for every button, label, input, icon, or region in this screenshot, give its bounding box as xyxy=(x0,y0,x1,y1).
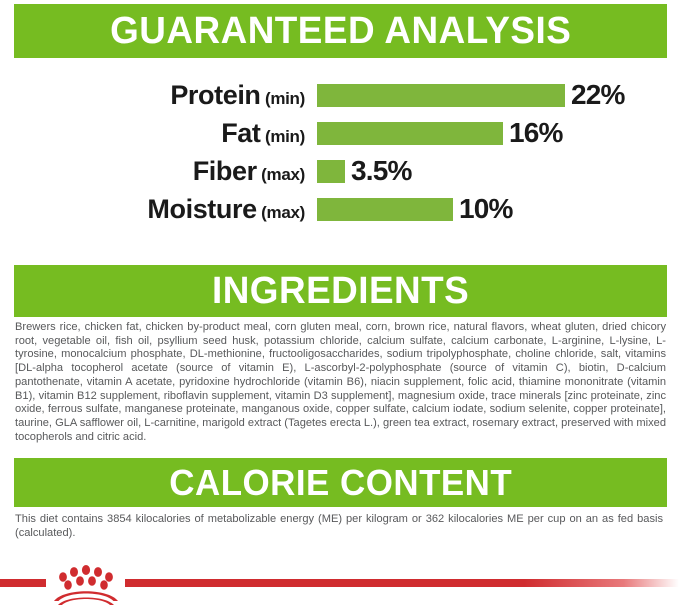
calorie-content-text: This diet contains 3854 kilocalories of … xyxy=(15,513,663,540)
nutrient-label-fat: Fat (min) xyxy=(0,120,305,147)
bar-zone-protein: 22% xyxy=(305,76,679,114)
nutrient-qualifier-fiber: (max) xyxy=(257,165,305,184)
footer-brand-rule xyxy=(0,562,679,605)
ingredients-title: INGREDIENTS xyxy=(212,272,469,310)
ingredients-text: Brewers rice, chicken fat, chicken by-pr… xyxy=(15,321,666,444)
footer-rule-left xyxy=(0,579,46,587)
royal-canin-crown-icon xyxy=(46,562,126,605)
nutrient-name-fat: Fat xyxy=(221,118,260,148)
guaranteed-analysis-title: GUARANTEED ANALYSIS xyxy=(110,12,571,50)
nutrient-name-fiber: Fiber xyxy=(193,156,257,186)
nutrient-name-protein: Protein xyxy=(170,80,260,110)
nutrient-qualifier-protein: (min) xyxy=(261,89,305,108)
section-header-ingredients: INGREDIENTS xyxy=(14,265,667,317)
footer-rule-right xyxy=(125,579,679,587)
bar-value-moisture: 10% xyxy=(459,195,513,223)
nutrient-qualifier-fat: (min) xyxy=(261,127,305,146)
bar-value-protein: 22% xyxy=(571,81,625,109)
section-header-guaranteed-analysis: GUARANTEED ANALYSIS xyxy=(14,4,667,58)
bar-moisture xyxy=(317,198,453,221)
nutrition-panel: GUARANTEED ANALYSIS Protein (min) 22% Fa… xyxy=(0,0,679,605)
bar-zone-fiber: 3.5% xyxy=(305,152,679,190)
bar-value-fat: 16% xyxy=(509,119,563,147)
nutrient-qualifier-moisture: (max) xyxy=(257,203,305,222)
nutrient-name-moisture: Moisture xyxy=(147,194,256,224)
guaranteed-analysis-chart: Protein (min) 22% Fat (min) 16% Fiber (m… xyxy=(0,76,679,231)
calorie-content-title: CALORIE CONTENT xyxy=(169,465,512,501)
bar-value-fiber: 3.5% xyxy=(351,157,412,185)
bar-fat xyxy=(317,122,503,145)
section-header-calorie-content: CALORIE CONTENT xyxy=(14,458,667,507)
nutrient-label-fiber: Fiber (max) xyxy=(0,158,305,185)
bar-fiber xyxy=(317,160,345,183)
nutrient-label-protein: Protein (min) xyxy=(0,82,305,109)
analysis-row-protein: Protein (min) 22% xyxy=(0,76,679,114)
analysis-row-moisture: Moisture (max) 10% xyxy=(0,190,679,228)
bar-zone-moisture: 10% xyxy=(305,190,679,228)
analysis-row-fiber: Fiber (max) 3.5% xyxy=(0,152,679,190)
nutrient-label-moisture: Moisture (max) xyxy=(0,196,305,223)
bar-zone-fat: 16% xyxy=(305,114,679,152)
bar-protein xyxy=(317,84,565,107)
analysis-row-fat: Fat (min) 16% xyxy=(0,114,679,152)
